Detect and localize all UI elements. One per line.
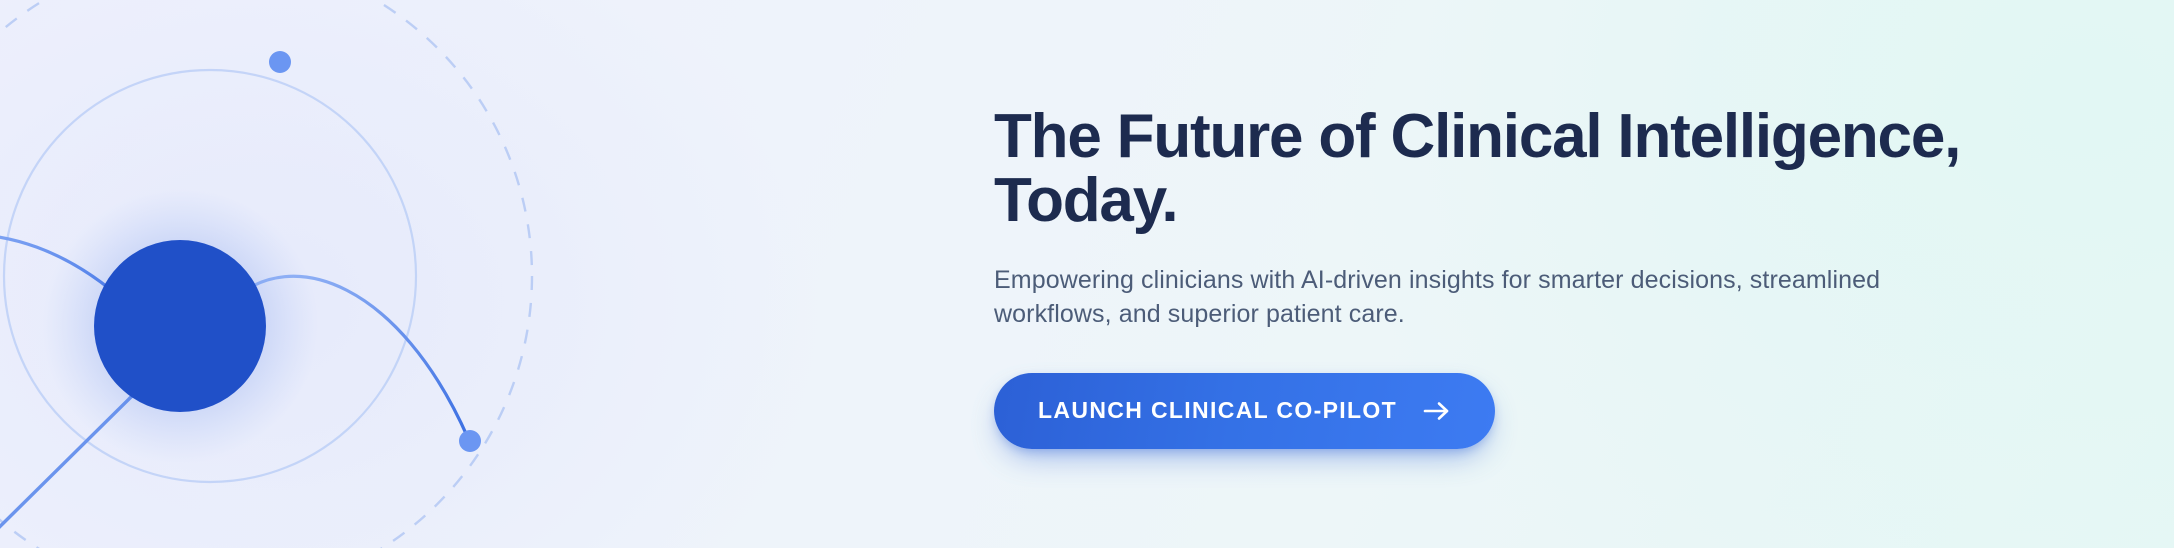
node-right	[459, 430, 481, 452]
central-hub-node	[94, 240, 266, 412]
hero-subheadline: Empowering clinicians with AI-driven ins…	[994, 263, 1924, 331]
dashed-outer-orbit	[0, 0, 532, 548]
curve-core-to-right	[232, 276, 468, 438]
cta-label: LAUNCH CLINICAL CO-PILOT	[1038, 397, 1397, 424]
orbit-network-illustration	[0, 0, 580, 548]
headline-line-2: Today.	[994, 166, 1177, 235]
headline-line-1: The Future of Clinical Intelligence,	[994, 102, 1960, 171]
central-hub-glow	[42, 188, 318, 464]
arrow-right-icon	[1423, 399, 1451, 423]
cta-row: LAUNCH CLINICAL CO-PILOT	[994, 373, 2094, 449]
hero-content: The Future of Clinical Intelligence, Tod…	[994, 0, 2094, 548]
line-bottom-left-to-core	[0, 396, 132, 548]
hero-section: The Future of Clinical Intelligence, Tod…	[0, 0, 2174, 548]
curve-left-to-core	[0, 234, 140, 316]
solid-inner-orbit	[4, 70, 416, 482]
page-title: The Future of Clinical Intelligence, Tod…	[994, 105, 2004, 233]
node-top-right	[269, 51, 291, 73]
launch-clinical-copilot-button[interactable]: LAUNCH CLINICAL CO-PILOT	[994, 373, 1495, 449]
